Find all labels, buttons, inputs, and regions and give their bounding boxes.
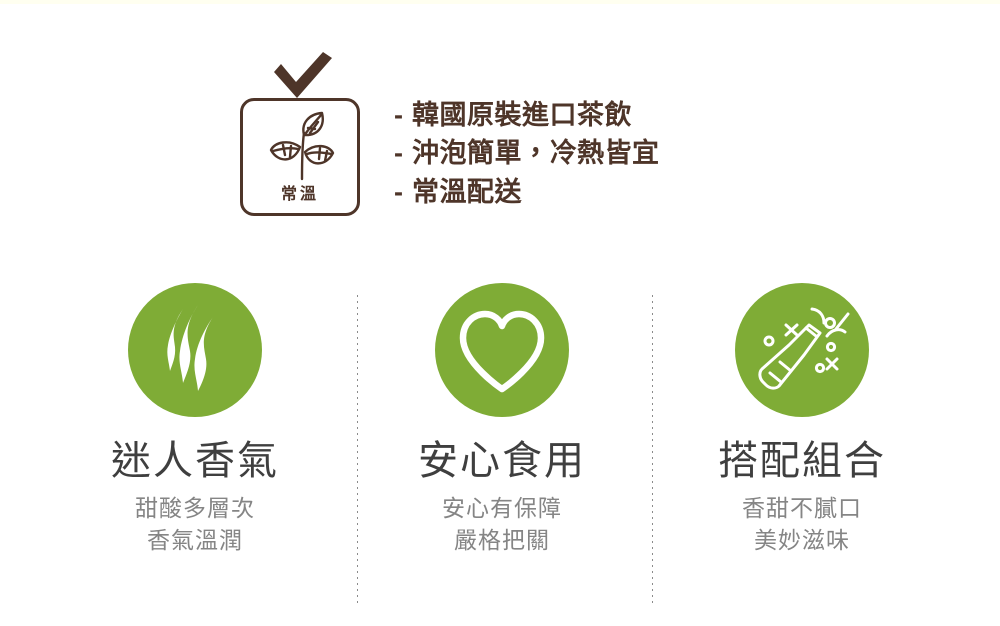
feature-subtitle-line: 嚴格把關 [352,524,652,557]
bullet-item: - 沖泡簡單，冷熱皆宜 [394,134,660,172]
product-feature-page: 常溫 - 韓國原裝進口茶飲 - 沖泡簡單，冷熱皆宜 - 常溫配送 [0,0,1000,626]
banner-section: 常溫 - 韓國原裝進口茶飲 - 沖泡簡單，冷熱皆宜 - 常溫配送 [0,52,1000,232]
feature-subtitle-line: 美妙滋味 [652,524,952,557]
feature-subtitle: 香甜不膩口 美妙滋味 [652,492,952,557]
bullet-marker: - [394,173,412,211]
check-mark-icon [272,52,334,100]
aroma-smoke-icon [128,283,262,417]
feature-subtitle: 安心有保障 嚴格把關 [352,492,652,557]
tea-leaf-icon [263,111,341,183]
feature-title: 迷人香氣 [45,439,345,484]
bullet-text: 韓國原裝進口茶飲 [412,96,632,134]
bullet-marker: - [394,134,412,172]
feature-column-aroma: 迷人香氣 甜酸多層次 香氣溫潤 [45,283,345,557]
bullet-item: - 韓國原裝進口茶飲 [394,96,660,134]
feature-title: 搭配組合 [652,439,952,484]
top-accent-strip [0,0,1000,4]
bullet-marker: - [394,96,412,134]
champagne-bottle-icon [735,283,869,417]
feature-column-pairing: 搭配組合 香甜不膩口 美妙滋味 [652,283,952,557]
feature-icon-badge [128,283,262,417]
feature-column-safety: 安心食用 安心有保障 嚴格把關 [352,283,652,557]
feature-title: 安心食用 [352,439,652,484]
feature-subtitle: 甜酸多層次 香氣溫潤 [45,492,345,557]
feature-icon-badge [735,283,869,417]
feature-subtitle-line: 安心有保障 [352,492,652,525]
bullet-text: 常溫配送 [412,173,522,211]
banner-bullet-list: - 韓國原裝進口茶飲 - 沖泡簡單，冷熱皆宜 - 常溫配送 [394,96,660,211]
bullet-text: 沖泡簡單，冷熱皆宜 [412,134,660,172]
badge-label: 常溫 [243,187,357,203]
shipping-badge: 常溫 [238,52,362,224]
badge-frame: 常溫 [240,98,360,216]
heart-icon [435,283,569,417]
feature-subtitle-line: 香氣溫潤 [45,524,345,557]
features-section: 迷人香氣 甜酸多層次 香氣溫潤 安心食用 安心有保障 嚴格把關 [0,283,1000,623]
feature-icon-badge [435,283,569,417]
bullet-item: - 常溫配送 [394,173,660,211]
feature-subtitle-line: 香甜不膩口 [652,492,952,525]
feature-subtitle-line: 甜酸多層次 [45,492,345,525]
